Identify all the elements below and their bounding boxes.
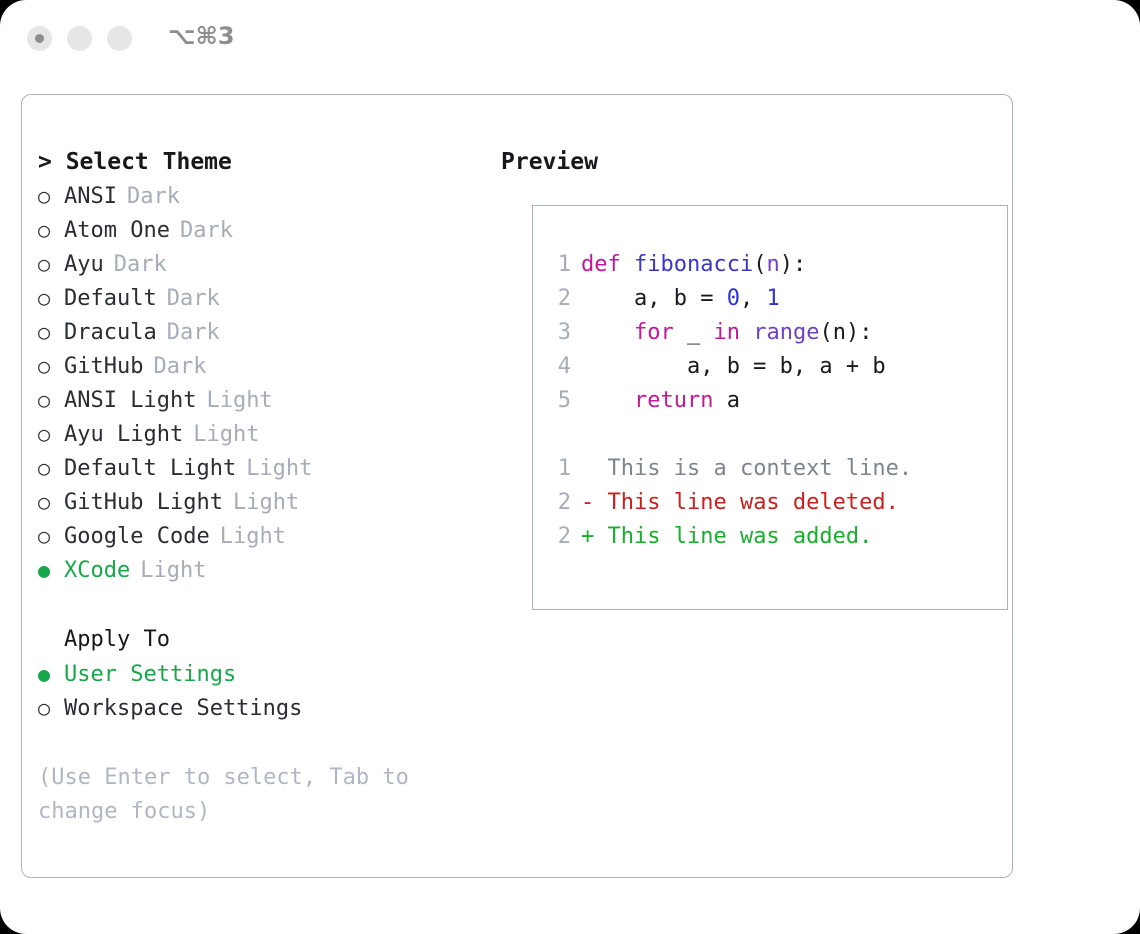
- theme-variant-label: Light: [236, 452, 312, 486]
- diff-line-number: 2: [545, 486, 571, 520]
- radio-unselected-icon: ○: [38, 281, 64, 315]
- diff-line-content: This is a context line.: [571, 456, 912, 481]
- code-line: 4 a, b = b, a + b: [545, 350, 995, 384]
- code-token-num: 0: [727, 286, 740, 311]
- preview-column: Preview 1def fibonacci(n):2 a, b = 0, 13…: [501, 145, 1001, 179]
- code-line-content: return a: [571, 388, 740, 413]
- radio-unselected-icon: ○: [38, 213, 64, 247]
- radio-selected-icon: ●: [38, 553, 64, 587]
- diff-line: 2- This line was deleted.: [545, 486, 995, 520]
- select-theme-header: > Select Theme: [38, 145, 488, 179]
- radio-unselected-icon: ○: [38, 519, 64, 553]
- theme-variant-label: Dark: [157, 282, 220, 316]
- theme-list-item[interactable]: ○Atom OneDark: [38, 213, 488, 247]
- traffic-light-maximize[interactable]: [107, 26, 132, 51]
- code-token-punct: (n):: [819, 320, 872, 345]
- keyboard-shortcut-label: ⌥⌘3: [168, 22, 235, 50]
- spacer-after-themes: [38, 587, 488, 623]
- theme-variant-label: Light: [183, 418, 259, 452]
- code-token-plain: [581, 388, 634, 413]
- code-token-kw: for: [634, 320, 674, 345]
- theme-list-item[interactable]: ○DraculaDark: [38, 315, 488, 349]
- theme-name-label: Dracula: [64, 316, 157, 350]
- preview-header: Preview: [501, 145, 1001, 179]
- code-line: 3 for _ in range(n):: [545, 316, 995, 350]
- apply-to-item[interactable]: ●User Settings: [38, 657, 488, 691]
- code-token-punct: ):: [780, 252, 807, 277]
- keyboard-hint-text: (Use Enter to select, Tab to change focu…: [38, 761, 448, 829]
- app-window: ⌥⌘3 > Select Theme ○ANSIDark○Atom OneDar…: [0, 0, 1140, 934]
- code-line: 2 a, b = 0, 1: [545, 282, 995, 316]
- theme-name-label: Atom One: [64, 214, 170, 248]
- theme-list-item[interactable]: ○Google CodeLight: [38, 519, 488, 553]
- theme-name-label: Default: [64, 282, 157, 316]
- apply-to-header: Apply To: [38, 623, 488, 657]
- traffic-light-active-dot: [35, 34, 44, 43]
- code-line-number: 2: [545, 282, 571, 316]
- theme-list-item[interactable]: ●XCodeLight: [38, 553, 488, 587]
- code-token-plain: ,: [740, 286, 767, 311]
- title-bar: ⌥⌘3: [0, 0, 1140, 78]
- apply-to-item[interactable]: ○Workspace Settings: [38, 691, 488, 725]
- radio-unselected-icon: ○: [38, 349, 64, 383]
- code-line: 1def fibonacci(n):: [545, 248, 995, 282]
- code-token-kw: return: [634, 388, 713, 413]
- code-line-number: 1: [545, 248, 571, 282]
- theme-name-label: ANSI Light: [64, 384, 196, 418]
- code-line-content: a, b = 0, 1: [571, 286, 780, 311]
- code-token-plain: a, b =: [581, 286, 727, 311]
- code-token-fn: fibonacci: [634, 252, 753, 277]
- code-blank-line: [545, 418, 995, 452]
- radio-unselected-icon: ○: [38, 179, 64, 213]
- theme-variant-label: Light: [130, 554, 206, 588]
- theme-name-label: XCode: [64, 554, 130, 588]
- radio-unselected-icon: ○: [38, 383, 64, 417]
- code-token-num: 1: [766, 286, 779, 311]
- code-token-param: n: [766, 252, 779, 277]
- theme-list-item[interactable]: ○GitHubDark: [38, 349, 488, 383]
- code-line-content: for _ in range(n):: [571, 320, 872, 345]
- radio-selected-icon: ●: [38, 657, 64, 691]
- code-line-number: 4: [545, 350, 571, 384]
- traffic-light-close[interactable]: [27, 26, 52, 51]
- diff-text: This line was deleted.: [594, 490, 899, 515]
- diff-text: This is a context line.: [594, 456, 912, 481]
- theme-variant-label: Dark: [104, 248, 167, 282]
- spacer-after-apply: [38, 725, 488, 761]
- code-token-param: range: [753, 320, 819, 345]
- code-line: 5 return a: [545, 384, 995, 418]
- theme-list-item[interactable]: ○ANSI LightLight: [38, 383, 488, 417]
- theme-variant-label: Light: [210, 520, 286, 554]
- radio-unselected-icon: ○: [38, 451, 64, 485]
- diff-line-content: - This line was deleted.: [571, 490, 899, 515]
- theme-variant-label: Dark: [157, 316, 220, 350]
- diff-sign: -: [581, 490, 594, 515]
- code-line-number: 5: [545, 384, 571, 418]
- theme-list-item[interactable]: ○GitHub LightLight: [38, 485, 488, 519]
- radio-unselected-icon: ○: [38, 315, 64, 349]
- code-token-plain: [581, 320, 634, 345]
- theme-name-label: Ayu: [64, 248, 104, 282]
- apply-to-label: Workspace Settings: [64, 692, 302, 726]
- radio-unselected-icon: ○: [38, 417, 64, 451]
- code-token-kw: def: [581, 252, 634, 277]
- code-line-number: 3: [545, 316, 571, 350]
- code-line-content: def fibonacci(n):: [571, 252, 806, 277]
- traffic-light-minimize[interactable]: [67, 26, 92, 51]
- diff-sign: [581, 456, 594, 481]
- theme-variant-label: Dark: [143, 350, 206, 384]
- radio-unselected-icon: ○: [38, 485, 64, 519]
- theme-name-label: Ayu Light: [64, 418, 183, 452]
- theme-name-label: Google Code: [64, 520, 210, 554]
- theme-variant-label: Light: [196, 384, 272, 418]
- theme-variant-label: Dark: [170, 214, 233, 248]
- code-token-plain: _: [674, 320, 714, 345]
- code-line-content: a, b = b, a + b: [571, 354, 886, 379]
- preview-box: 1def fibonacci(n):2 a, b = 0, 13 for _ i…: [532, 205, 1008, 610]
- theme-name-label: GitHub Light: [64, 486, 223, 520]
- diff-line-number: 2: [545, 520, 571, 554]
- theme-list-item[interactable]: ○AyuDark: [38, 247, 488, 281]
- theme-list: ○ANSIDark○Atom OneDark○AyuDark○DefaultDa…: [38, 179, 488, 587]
- main-panel: > Select Theme ○ANSIDark○Atom OneDark○Ay…: [21, 94, 1013, 878]
- theme-name-label: GitHub: [64, 350, 143, 384]
- theme-variant-label: Light: [223, 486, 299, 520]
- diff-line: 1 This is a context line.: [545, 452, 995, 486]
- apply-to-list: ●User Settings○Workspace Settings: [38, 657, 488, 725]
- diff-line: 2+ This line was added.: [545, 520, 995, 554]
- code-preview-area: 1def fibonacci(n):2 a, b = 0, 13 for _ i…: [545, 248, 995, 554]
- theme-variant-label: Dark: [117, 180, 180, 214]
- code-token-plain: a: [713, 388, 740, 413]
- theme-list-item[interactable]: ○Default LightLight: [38, 451, 488, 485]
- diff-line-content: + This line was added.: [571, 524, 872, 549]
- theme-name-label: Default Light: [64, 452, 236, 486]
- theme-list-item[interactable]: ○DefaultDark: [38, 281, 488, 315]
- code-token-punct: (: [753, 252, 766, 277]
- theme-name-label: ANSI: [64, 180, 117, 214]
- theme-list-item[interactable]: ○Ayu LightLight: [38, 417, 488, 451]
- code-token-plain: [740, 320, 753, 345]
- theme-list-item[interactable]: ○ANSIDark: [38, 179, 488, 213]
- apply-to-label: User Settings: [64, 658, 236, 692]
- radio-unselected-icon: ○: [38, 691, 64, 725]
- diff-line-number: 1: [545, 452, 571, 486]
- theme-selector-column: > Select Theme ○ANSIDark○Atom OneDark○Ay…: [38, 145, 488, 829]
- diff-sign: +: [581, 524, 594, 549]
- code-token-kw: in: [713, 320, 740, 345]
- radio-unselected-icon: ○: [38, 247, 64, 281]
- code-token-plain: a, b = b, a + b: [581, 354, 886, 379]
- diff-text: This line was added.: [594, 524, 872, 549]
